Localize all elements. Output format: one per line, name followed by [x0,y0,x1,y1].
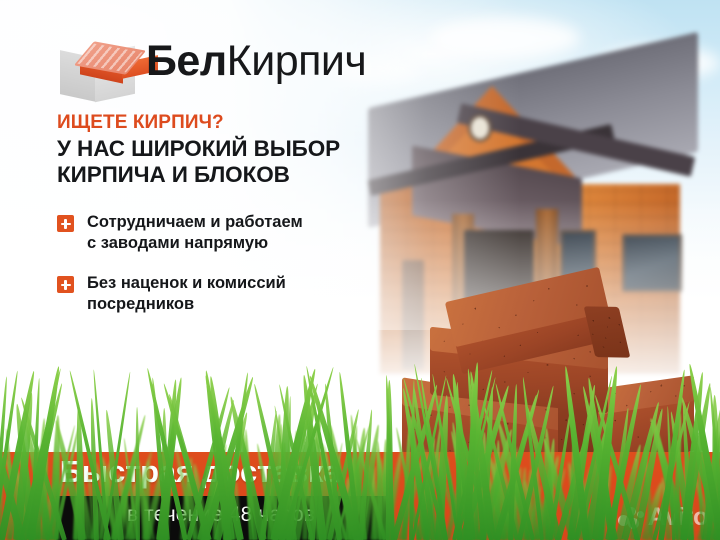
benefit-line-2: посредников [87,294,286,315]
benefit-text: Без наценок и комиссий посредников [87,273,286,315]
brick-block-icon [60,46,138,100]
brand-logo: БелКирпич [60,24,360,100]
headline-block: ИЩЕТЕ КИРПИЧ? У НАС ШИРОКИЙ ВЫБОР КИРПИЧ… [57,112,397,189]
plus-square-icon [57,215,74,232]
brand-name-bold: Бел [146,37,227,85]
benefit-line-1: Сотрудничаем и работаем [87,212,303,233]
advertisement-banner: БелКирпич ИЩЕТЕ КИРПИЧ? У НАС ШИРОКИЙ ВЫ… [0,0,720,540]
brand-name: БелКирпич [146,40,366,83]
benefits-list: Сотрудничаем и работаем с заводами напря… [57,212,402,334]
benefit-line-2: с заводами напрямую [87,233,303,254]
brand-name-light: Кирпич [227,37,367,85]
headline-line-2: КИРПИЧА И БЛОКОВ [57,162,397,189]
headline-question: ИЩЕТЕ КИРПИЧ? [57,112,397,134]
plus-square-icon [57,276,74,293]
benefit-text: Сотрудничаем и работаем с заводами напря… [87,212,303,254]
headline-line-1: У НАС ШИРОКИЙ ВЫБОР [57,136,397,163]
list-item: Без наценок и комиссий посредников [57,273,402,315]
benefit-line-1: Без наценок и комиссий [87,273,286,294]
list-item: Сотрудничаем и работаем с заводами напря… [57,212,402,254]
